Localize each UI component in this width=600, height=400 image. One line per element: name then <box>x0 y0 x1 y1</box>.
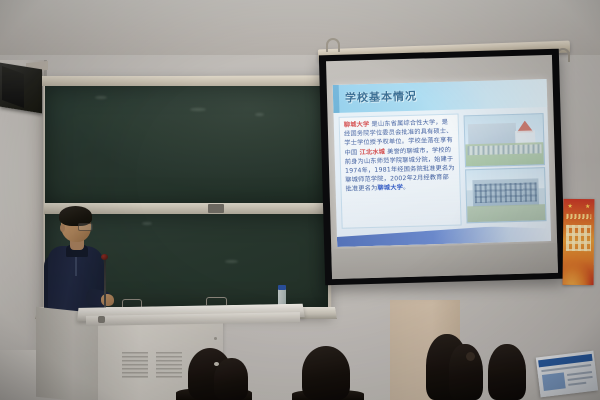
projection-screen: 学校基本情况 聊城大学 是山东省属综合性大学，是经国务院学位委员会批准的具有硕士… <box>319 49 565 286</box>
lecturer-hand <box>101 294 114 306</box>
handout-line <box>567 371 592 376</box>
slide-title: 学校基本情况 <box>345 88 417 106</box>
blackboard-upper-panel <box>45 86 328 206</box>
star-icon: ★ <box>567 204 572 210</box>
slide-highlight-university: 聊城大学 <box>344 121 370 129</box>
podium-vent <box>156 352 182 378</box>
slide-photo-campus-aerial <box>464 113 545 167</box>
chalk-tray-hook <box>206 297 227 305</box>
blackboard-slide-clip <box>208 204 224 213</box>
shirt-placket <box>75 254 77 276</box>
photo-ground <box>467 205 545 223</box>
podium-latch-icon[interactable] <box>98 316 105 323</box>
star-icon: ★ <box>585 204 590 210</box>
blackboard-top-rail <box>42 76 330 86</box>
lecturer-ear <box>60 224 65 232</box>
photo-windows <box>474 182 537 203</box>
ponytail <box>466 352 475 361</box>
student-head <box>488 344 526 400</box>
slide-header-accent <box>333 85 340 113</box>
red-propaganda-banner: ★ ★ <box>563 199 595 285</box>
handout-line <box>568 376 593 381</box>
screen-hook-left-icon <box>326 38 340 52</box>
water-bottle-cap <box>278 285 286 290</box>
chalk-smudge <box>142 222 152 225</box>
handout-block <box>542 372 566 391</box>
poster-text-grid <box>566 225 591 251</box>
poster-heading-strip <box>566 214 591 219</box>
microphone-icon[interactable] <box>101 254 108 260</box>
student-hair <box>449 344 483 400</box>
microphone-stem[interactable] <box>104 258 106 310</box>
printed-handout[interactable] <box>536 351 598 398</box>
eyeglasses-icon <box>78 223 93 231</box>
hair-tie <box>214 362 219 366</box>
student-hair-bun <box>214 358 248 400</box>
slide-text-segment-3: 。 <box>403 184 410 191</box>
podium-screw <box>214 337 217 340</box>
student-head <box>302 346 350 400</box>
slide-highlight-nickname: 江北水城 <box>359 148 385 156</box>
screen-surface: 学校基本情况 聊城大学 是山东省属综合性大学，是经国务院学位委员会批准的具有硕士… <box>326 55 558 279</box>
presentation-slide: 学校基本情况 聊城大学 是山东省属综合性大学，是经国务院学位委员会批准的具有硕士… <box>333 79 551 247</box>
chalk-smudge <box>95 96 107 99</box>
chalk-smudge <box>190 108 206 111</box>
slide-highlight-final: 聊城大学 <box>377 185 403 193</box>
podium-vent <box>122 352 148 378</box>
classroom-lecture-photo: 学校基本情况 聊城大学 是山东省属综合性大学，是经国务院学位委员会批准的具有硕士… <box>0 0 600 400</box>
poster-ribbon <box>563 257 594 285</box>
handout-line <box>568 382 586 386</box>
slide-body-textbox: 聊城大学 是山东省属综合性大学，是经国务院学位委员会批准的具有硕士、学士学位授予… <box>339 114 462 229</box>
slide-body-text: 聊城大学 是山东省属综合性大学，是经国务院学位委员会批准的具有硕士、学士学位授予… <box>344 118 456 195</box>
screen-blank-area <box>331 243 558 279</box>
chalk-smudge <box>225 260 238 263</box>
chalk-smudge <box>255 113 264 116</box>
slide-photo-main-building <box>465 167 546 223</box>
